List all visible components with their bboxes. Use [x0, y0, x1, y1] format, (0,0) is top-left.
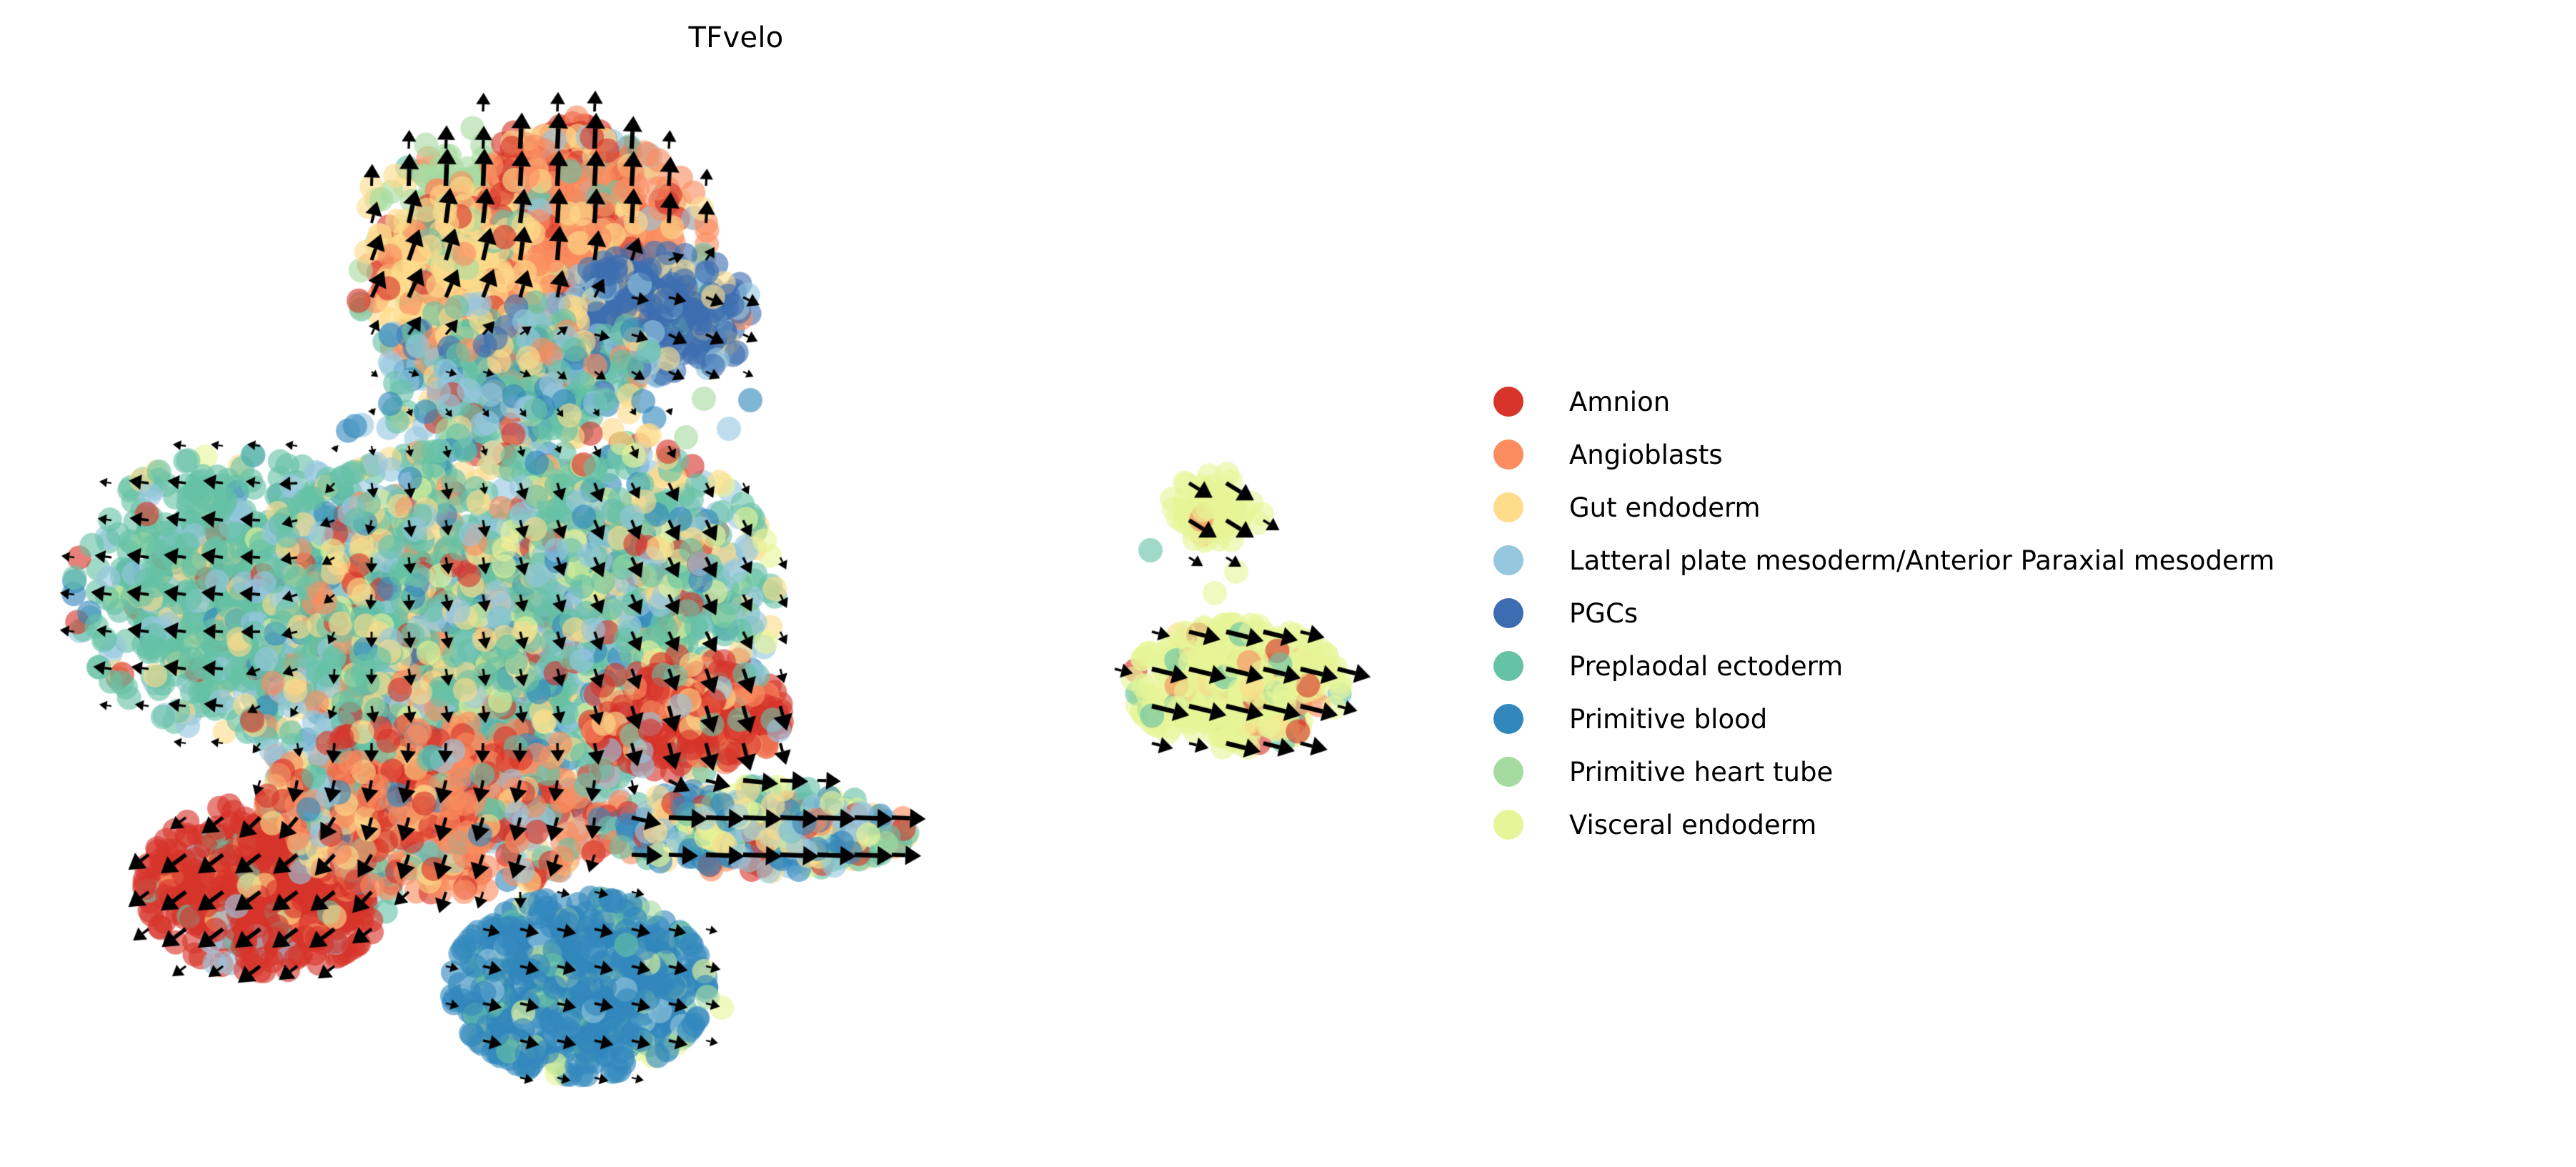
legend-swatch-icon — [1493, 545, 1523, 575]
legend-swatch-icon — [1493, 492, 1523, 522]
legend-item[interactable]: PGCs — [1493, 587, 2551, 640]
legend-swatch-icon — [1493, 651, 1523, 681]
legend-swatch-icon — [1493, 757, 1523, 787]
legend-swatch-icon — [1493, 704, 1523, 734]
legend-swatch-icon — [1493, 387, 1523, 417]
legend-item[interactable]: Preplaodal ectoderm — [1493, 640, 2551, 692]
legend-swatch-icon — [1493, 810, 1523, 840]
legend-item-label: Visceral endoderm — [1569, 812, 1816, 838]
legend-swatch-icon — [1493, 598, 1523, 628]
legend-swatch-icon — [1493, 440, 1523, 470]
velocity-embedding-figure: TFvelo Amnion Angioblasts Gut endoderm L… — [0, 0, 2576, 1167]
legend-item[interactable]: Primitive heart tube — [1493, 745, 2551, 798]
legend-item[interactable]: Primitive blood — [1493, 692, 2551, 745]
legend-item-label: Gut endoderm — [1569, 495, 1761, 521]
legend-item[interactable]: Gut endoderm — [1493, 481, 2551, 534]
legend-item-label: Latteral plate mesoderm/Anterior Paraxia… — [1569, 547, 2274, 574]
legend: Amnion Angioblasts Gut endoderm Latteral… — [1493, 375, 2551, 851]
legend-item[interactable]: Visceral endoderm — [1493, 798, 2551, 851]
legend-item[interactable]: Amnion — [1493, 375, 2551, 428]
legend-item-label: Primitive heart tube — [1569, 759, 1833, 785]
legend-item-label: Primitive blood — [1569, 706, 1767, 733]
legend-item-label: PGCs — [1569, 600, 1638, 627]
legend-item-label: Angioblasts — [1569, 442, 1723, 468]
legend-item-label: Preplaodal ectoderm — [1569, 653, 1843, 680]
legend-item[interactable]: Latteral plate mesoderm/Anterior Paraxia… — [1493, 534, 2551, 587]
legend-item[interactable]: Angioblasts — [1493, 428, 2551, 481]
legend-item-label: Amnion — [1569, 389, 1670, 415]
